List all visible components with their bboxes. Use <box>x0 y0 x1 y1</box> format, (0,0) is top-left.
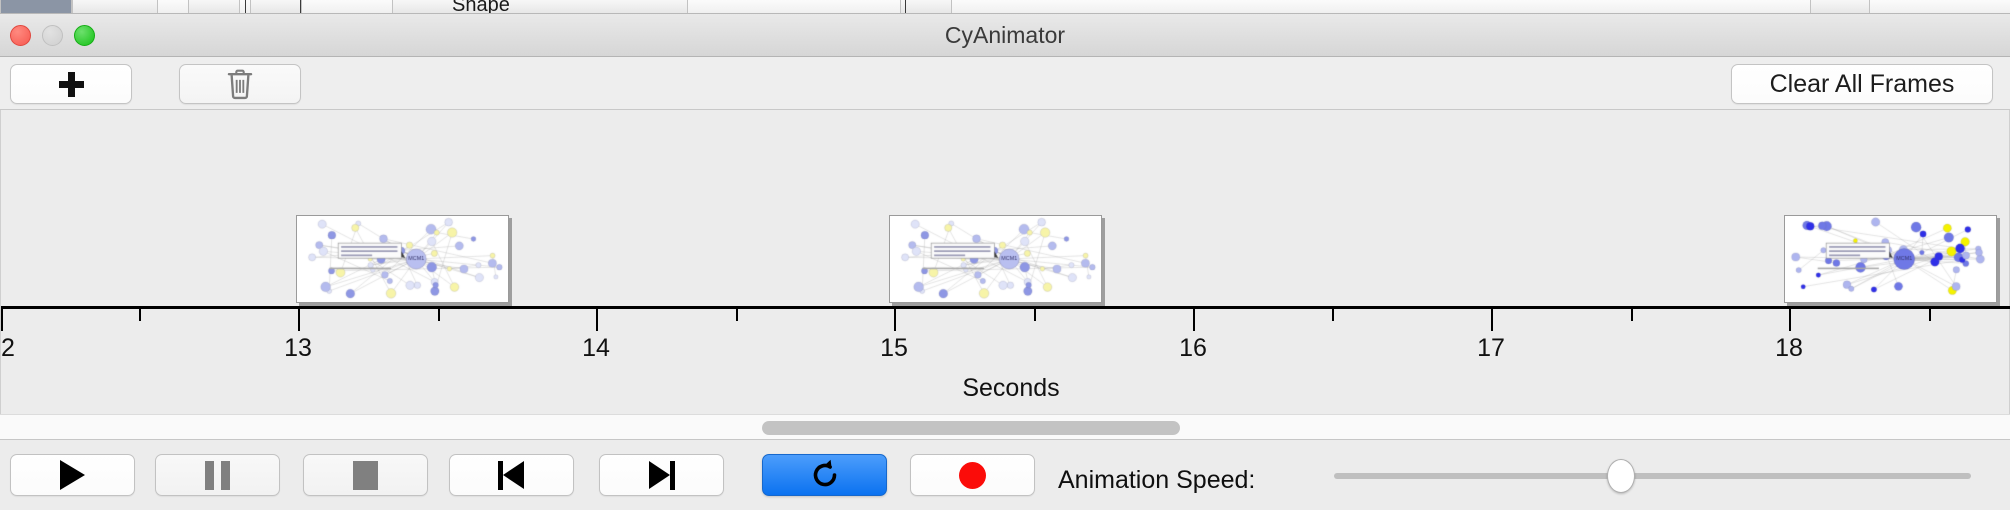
stop-button[interactable] <box>303 454 428 496</box>
background-window-label: Shape <box>452 0 510 14</box>
bg-chip <box>900 0 952 14</box>
timeline-frame-thumbnail[interactable] <box>296 215 509 303</box>
axis-tick-minor <box>139 309 141 321</box>
bg-chip <box>188 0 240 14</box>
axis-tick-minor <box>1929 309 1931 321</box>
plus-icon <box>59 72 84 97</box>
record-icon <box>959 462 986 489</box>
axis-tick-major <box>1 309 3 331</box>
axis-tick-label: 12 <box>0 334 15 363</box>
title-bar: CyAnimator <box>0 14 2010 57</box>
axis-tick-major <box>298 309 300 331</box>
axis-tick-label: 16 <box>1179 334 1207 363</box>
loop-button[interactable] <box>762 454 887 496</box>
axis-tick-minor <box>1631 309 1633 321</box>
timeline-panel[interactable]: 12131415161718 Seconds <box>0 110 2010 414</box>
axis-tick-minor <box>736 309 738 321</box>
axis-tick-label: 18 <box>1775 334 1803 363</box>
scrollbar-thumb[interactable] <box>762 421 1180 435</box>
playback-bar: Animation Speed: <box>0 441 2010 510</box>
animation-speed-slider[interactable] <box>1334 473 1971 479</box>
axis-title: Seconds <box>962 374 1059 403</box>
bg-chip <box>392 0 688 14</box>
timeline-frame-thumbnail[interactable] <box>1784 215 1997 303</box>
skip-backward-icon <box>498 461 525 490</box>
bg-tick <box>300 0 301 14</box>
bg-tick <box>245 0 246 14</box>
timeline-frame-thumbnail[interactable] <box>889 215 1102 303</box>
skip-forward-icon <box>648 461 675 490</box>
delete-frame-button[interactable] <box>179 64 301 104</box>
slider-knob[interactable] <box>1607 459 1635 493</box>
bg-tick <box>905 0 906 14</box>
timeline-scrollbar[interactable] <box>0 414 2010 440</box>
axis-tick-minor <box>1034 309 1036 321</box>
animation-speed-label: Animation Speed: <box>1058 466 1255 495</box>
network-thumbnail-canvas <box>890 216 1101 302</box>
frame-toolbar: Clear All Frames <box>0 57 2010 110</box>
clear-all-frames-button[interactable]: Clear All Frames <box>1731 64 1993 104</box>
timeline-axis <box>1 306 2010 309</box>
axis-tick-major <box>894 309 896 331</box>
add-frame-button[interactable] <box>10 64 132 104</box>
skip-start-button[interactable] <box>449 454 574 496</box>
axis-tick-label: 13 <box>284 334 312 363</box>
play-icon <box>60 460 85 490</box>
slider-track <box>1334 473 1971 479</box>
stop-icon <box>353 461 378 490</box>
play-button[interactable] <box>10 454 135 496</box>
bg-chip <box>0 0 72 14</box>
axis-tick-label: 14 <box>582 334 610 363</box>
record-button[interactable] <box>910 454 1035 496</box>
axis-tick-major <box>1193 309 1195 331</box>
axis-tick-label: 15 <box>880 334 908 363</box>
axis-tick-minor <box>1332 309 1334 321</box>
bg-chip <box>1810 0 1870 14</box>
loop-icon <box>808 458 842 492</box>
pause-icon <box>205 461 230 490</box>
trash-icon <box>225 68 255 100</box>
pause-button[interactable] <box>155 454 280 496</box>
window-title: CyAnimator <box>0 14 2010 57</box>
clear-all-frames-label: Clear All Frames <box>1770 70 1955 99</box>
bg-chip <box>72 0 158 14</box>
axis-tick-major <box>1491 309 1493 331</box>
skip-end-button[interactable] <box>599 454 724 496</box>
network-thumbnail-canvas <box>1785 216 1996 302</box>
background-window-strip: Shape <box>0 0 2010 14</box>
bg-chip <box>250 0 302 14</box>
axis-tick-major <box>1789 309 1791 331</box>
axis-tick-minor <box>438 309 440 321</box>
axis-tick-label: 17 <box>1477 334 1505 363</box>
axis-tick-major <box>596 309 598 331</box>
network-thumbnail-canvas <box>297 216 508 302</box>
